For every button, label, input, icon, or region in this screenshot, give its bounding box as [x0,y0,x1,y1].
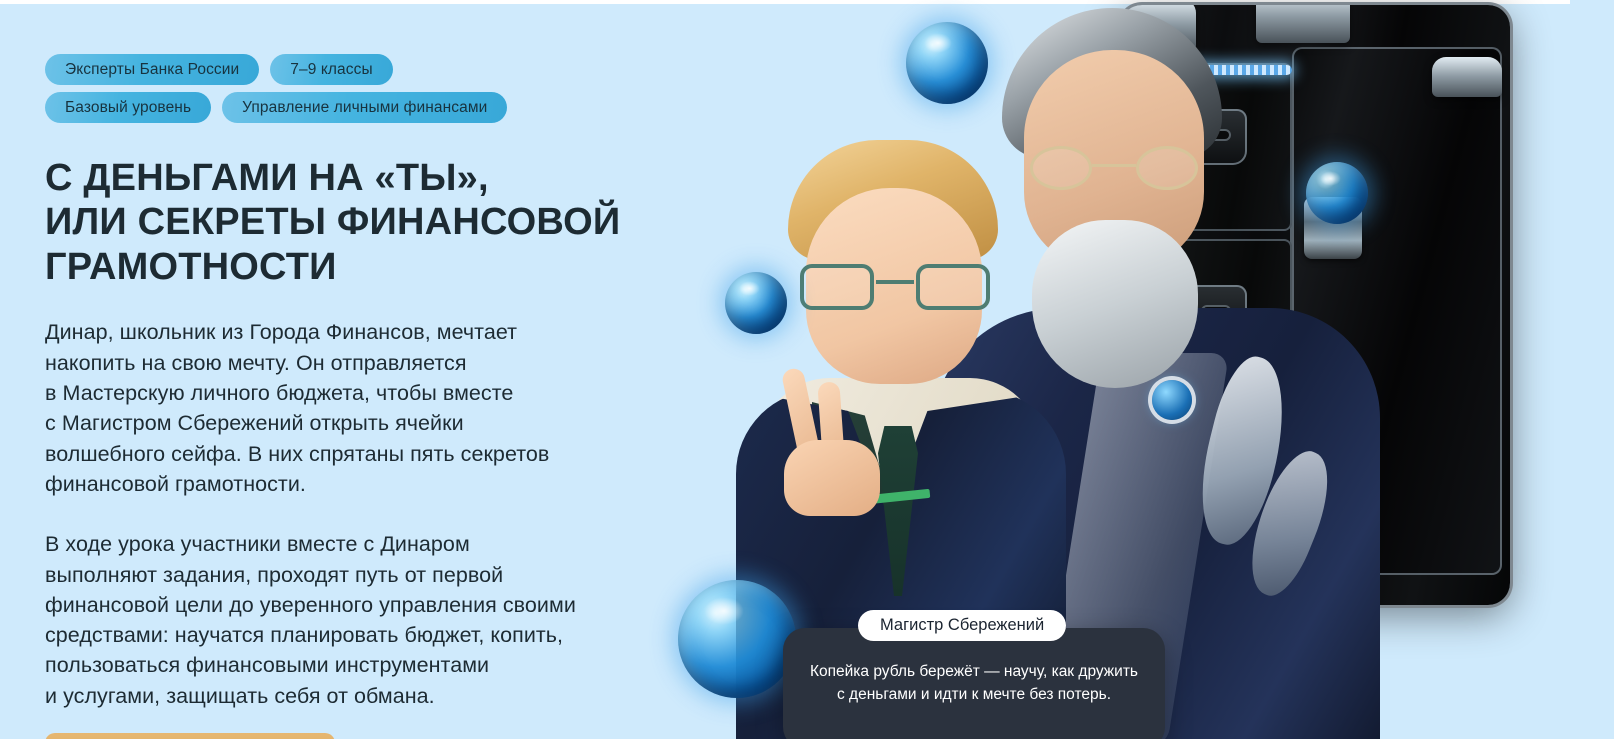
glasses-bridge [1092,164,1136,167]
description-paragraph-2: В ходе урока участники вместе с Динаром … [45,529,665,711]
speech-bubble-message: Копейка рубль бережёт — научу, как дружи… [783,628,1165,739]
tag-row-primary: Эксперты Банка России 7–9 классы [45,54,665,85]
tag-grades[interactable]: 7–9 классы [270,54,392,85]
hand-palm [784,440,880,516]
safe-corner-cap [1432,57,1502,97]
magic-orb-icon [1306,162,1368,224]
page-title: С ДЕНЬГАМИ НА «ТЫ», ИЛИ СЕКРЕТЫ ФИНАНСОВ… [45,156,665,289]
boy-glasses-icon [800,264,990,310]
tag-row-secondary: Базовый уровень Управление личными финан… [45,92,665,123]
glasses-bridge [876,280,914,284]
glasses-lens-left [800,264,874,310]
hero-banner: Магистр Сбережений Копейка рубль бережёт… [0,0,1614,739]
hero-text-column: Эксперты Банка России 7–9 классы Базовый… [45,54,665,711]
tag-basic-level[interactable]: Базовый уровень [45,92,211,123]
glasses-lens-right [916,264,990,310]
mage-brooch-icon [1152,380,1192,420]
magic-orb-icon [725,272,787,334]
tag-experts-bank-of-russia[interactable]: Эксперты Банка России [45,54,259,85]
tag-personal-finance-management[interactable]: Управление личными финансами [222,92,507,123]
magic-orb-icon [906,22,988,104]
description-paragraph-1: Динар, школьник из Города Финансов, мечт… [45,317,665,499]
cta-button[interactable] [45,733,335,739]
boy-hand [776,366,894,516]
speaker-name-badge: Магистр Сбережений [858,610,1066,641]
magic-orb-icon [678,580,796,698]
glasses-lens-right [1136,146,1198,190]
